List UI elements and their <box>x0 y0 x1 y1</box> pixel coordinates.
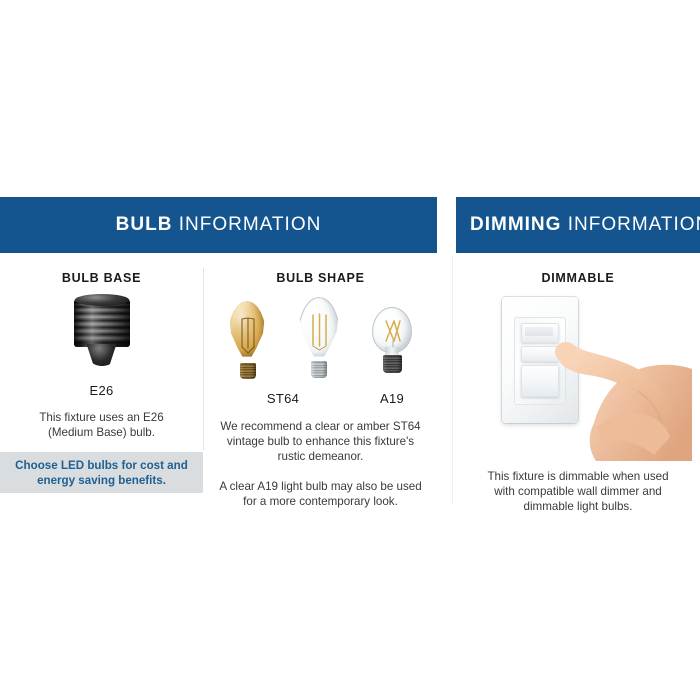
e26-screw-base-icon <box>71 297 133 371</box>
bulb-shape-body-text-2: A clear A19 light bulb may also be used … <box>204 479 437 509</box>
dimming-information-header-title: DIMMING INFORMATION <box>470 214 700 236</box>
e26-tip <box>87 344 117 366</box>
header-light-word: INFORMATION <box>179 214 322 235</box>
a19-cap <box>383 355 402 373</box>
e26-top-rim <box>75 294 129 306</box>
led-recommendation-text: Choose LED bulbs for cost and energy sav… <box>0 458 203 488</box>
dimmable-body-text: This fixture is dimmable when used with … <box>456 469 700 514</box>
header-bold-word: DIMMING <box>470 214 561 235</box>
st64-clear-bulb-icon <box>298 297 340 385</box>
bulb-base-body-text: This fixture uses an E26 (Medium Base) b… <box>0 410 203 440</box>
a19-clear-bulb-icon <box>372 307 414 385</box>
bulb-base-item-label: E26 <box>0 383 203 398</box>
fingertip <box>555 342 577 362</box>
bulb-base-column: BULB BASE E26 This fixture uses an E26 (… <box>0 253 203 440</box>
bulb-base-title: BULB BASE <box>0 271 203 285</box>
bulb-shape-label-a19: A19 <box>352 391 432 406</box>
bulb-base-artwork <box>0 297 203 377</box>
header-bold-word: BULB <box>116 214 173 235</box>
bulb-information-header: BULB INFORMATION <box>0 197 437 253</box>
dimmable-column: DIMMABLE <box>456 253 700 514</box>
panel-divider <box>452 256 453 504</box>
st64-clear-filament <box>308 313 331 355</box>
st64-clear-cap <box>311 361 327 378</box>
wall-dimmer-switch-with-hand-icon <box>456 293 700 461</box>
bulb-and-dimming-info-graphic: BULB INFORMATION DIMMING INFORMATION BUL… <box>0 0 700 700</box>
dimming-information-header: DIMMING INFORMATION <box>456 197 700 253</box>
bulb-shape-labels: ST64 A19 <box>204 391 437 411</box>
st64-amber-cap <box>240 363 256 379</box>
bulb-shape-title: BULB SHAPE <box>204 271 437 285</box>
bulb-shape-label-st64: ST64 <box>243 391 323 406</box>
pointing-hand <box>542 311 692 461</box>
dimmable-title: DIMMABLE <box>456 271 700 285</box>
header-light-word: INFORMATION <box>568 214 700 235</box>
bulb-shape-body-text-1: We recommend a clear or amber ST64 vinta… <box>204 419 437 464</box>
bulb-shape-column: BULB SHAPE <box>204 253 437 509</box>
bulb-shape-artwork <box>204 295 437 387</box>
bulb-information-header-title: BULB INFORMATION <box>116 214 322 236</box>
st64-amber-bulb-icon <box>228 301 268 385</box>
st64-amber-filament <box>237 317 259 357</box>
led-recommendation-banner: Choose LED bulbs for cost and energy sav… <box>0 452 203 493</box>
